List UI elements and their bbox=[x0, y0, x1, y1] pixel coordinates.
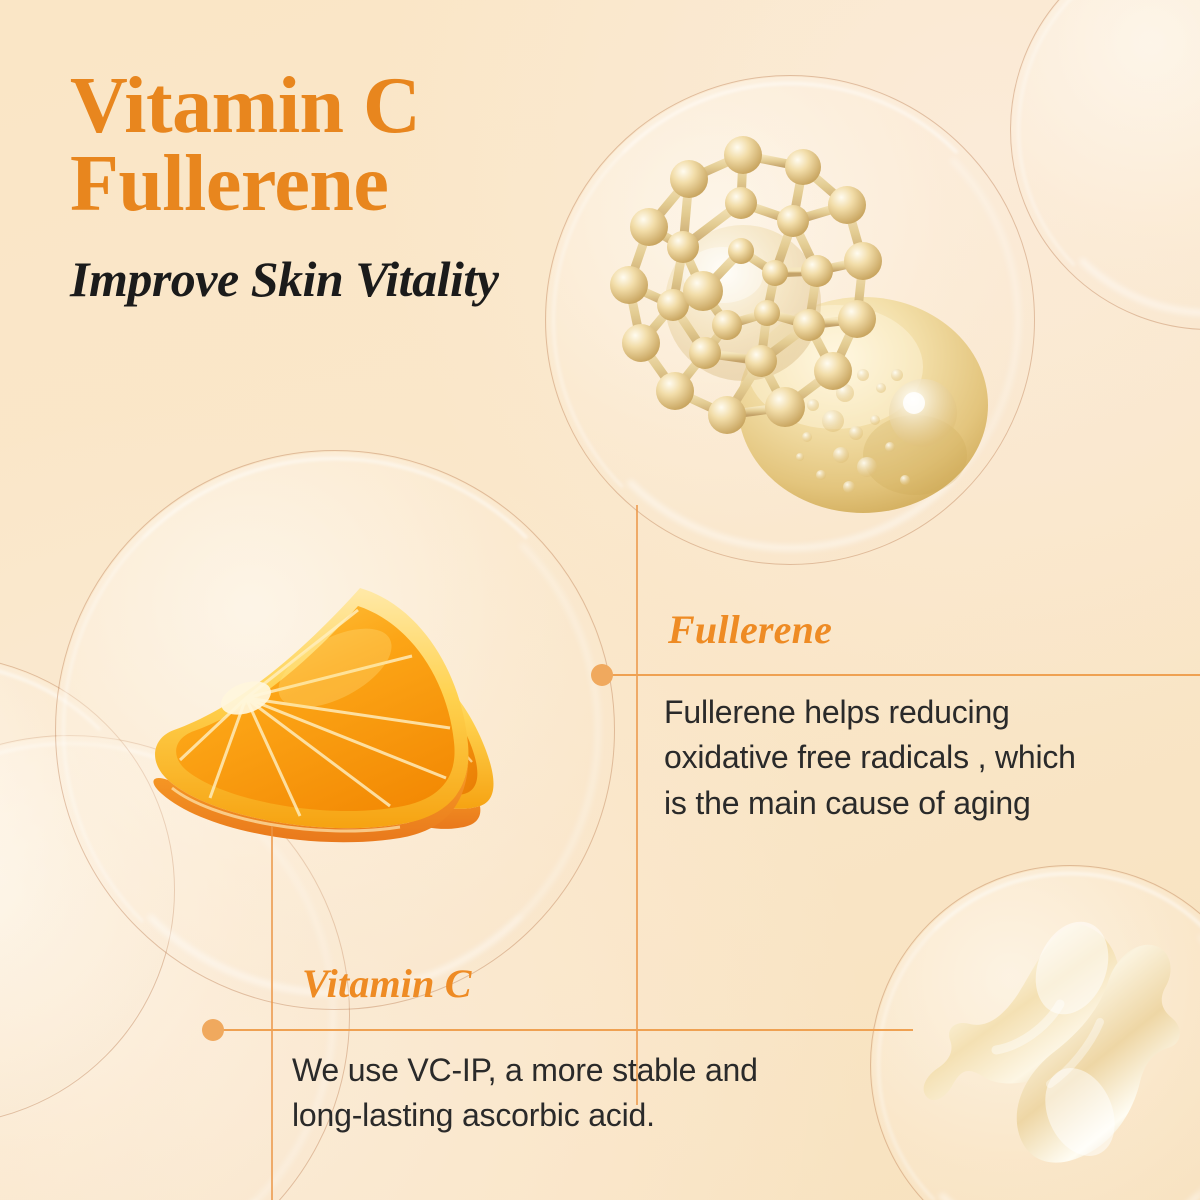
title-line-2: Fullerene bbox=[70, 146, 630, 224]
section-fullerene: Fullerene bbox=[668, 606, 832, 653]
fullerene-connector-horizontal bbox=[602, 674, 1200, 676]
fullerene-body: Fullerene helps reducing oxidative free … bbox=[664, 690, 1184, 826]
fullerene-heading: Fullerene bbox=[668, 606, 832, 653]
cream-dollops-image bbox=[900, 890, 1200, 1200]
vitaminc-connector-horizontal bbox=[213, 1029, 913, 1031]
vitaminc-heading: Vitamin C bbox=[302, 960, 472, 1007]
title-line-1: Vitamin C bbox=[70, 68, 630, 146]
fullerene-connector-dot bbox=[591, 664, 613, 686]
petri-dish-bottom-right bbox=[870, 865, 1200, 1200]
section-vitamin-c: Vitamin C bbox=[302, 960, 472, 1007]
vitaminc-connector-dot bbox=[202, 1019, 224, 1041]
section-vitamin-c-body-wrap: We use VC-IP, a more stable and long-las… bbox=[292, 1048, 872, 1139]
infographic-poster: Vitamin C Fullerene Improve Skin Vitalit… bbox=[0, 0, 1200, 1200]
title-block: Vitamin C Fullerene Improve Skin Vitalit… bbox=[70, 68, 630, 306]
vitaminc-body: We use VC-IP, a more stable and long-las… bbox=[292, 1048, 872, 1139]
orange-slices-image bbox=[150, 548, 550, 868]
petri-dish-bottom-left-small bbox=[0, 655, 175, 1125]
section-fullerene-body-wrap: Fullerene helps reducing oxidative free … bbox=[664, 690, 1184, 826]
page-subtitle: Improve Skin Vitality bbox=[70, 253, 630, 306]
petri-dish-top-right bbox=[1010, 0, 1200, 330]
fullerene-connector-vertical bbox=[636, 505, 638, 1105]
petri-dish-left-orange bbox=[55, 450, 615, 1010]
vitaminc-connector-vertical bbox=[271, 826, 273, 1200]
